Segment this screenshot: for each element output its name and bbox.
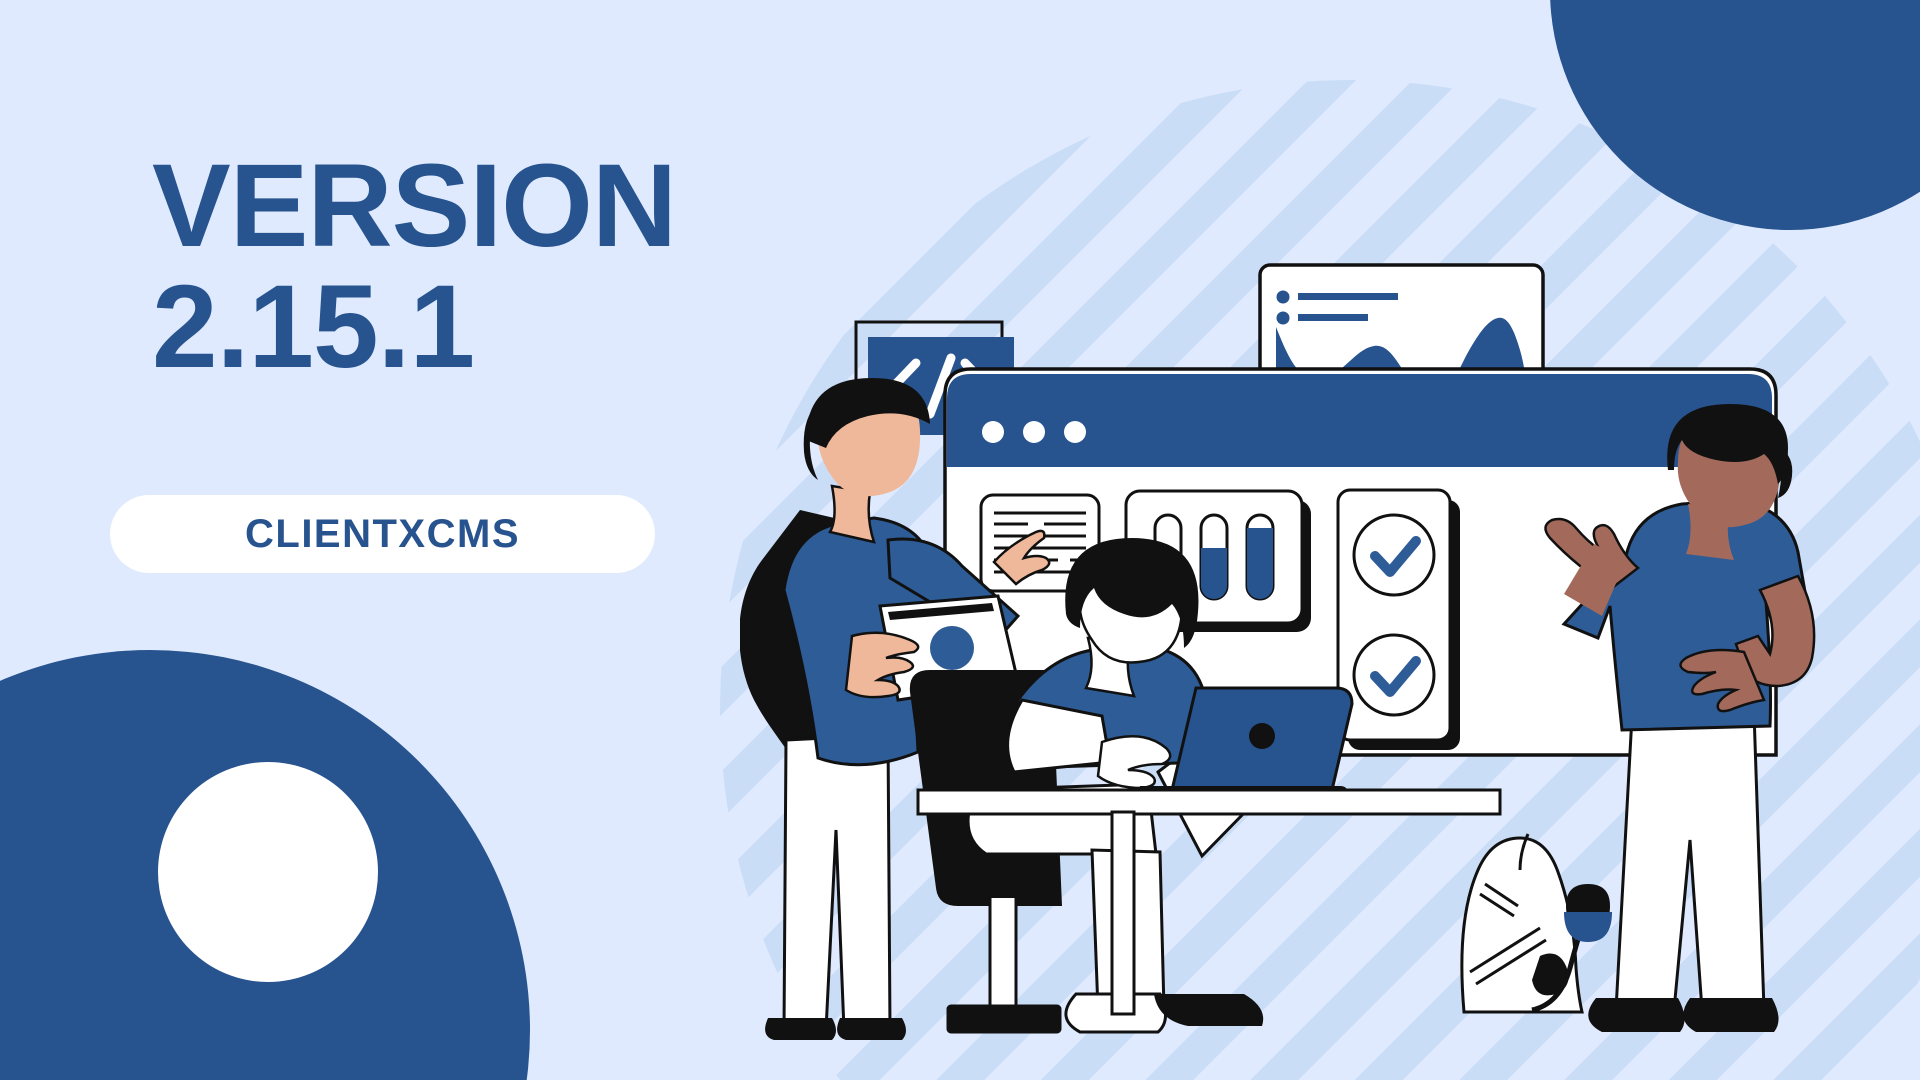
version-banner: VERSION 2.15.1 CLIENTXCMS (0, 0, 1920, 1080)
chart-legend-bullet-1 (1277, 291, 1290, 304)
check-item-1 (1354, 515, 1434, 595)
check-item-2 (1354, 635, 1434, 715)
character-cat (1462, 834, 1612, 1012)
checklist-card (1338, 490, 1460, 750)
chart-legend-line-1 (1298, 293, 1398, 300)
brand-badge: CLIENTXCMS (110, 495, 655, 573)
window-dot-2 (1023, 421, 1045, 443)
brand-badge-label: CLIENTXCMS (245, 512, 520, 557)
corner-circle-bottom-left (0, 650, 530, 1080)
window-dot-1 (982, 421, 1004, 443)
window-dot-3 (1064, 421, 1086, 443)
chart-legend-line-2 (1298, 314, 1368, 321)
chart-legend-bullet-2 (1277, 312, 1290, 325)
slider-2 (1201, 515, 1227, 599)
accent-circle-white (158, 762, 378, 982)
slider-3 (1247, 515, 1273, 599)
hero-illustration (740, 0, 1920, 1080)
